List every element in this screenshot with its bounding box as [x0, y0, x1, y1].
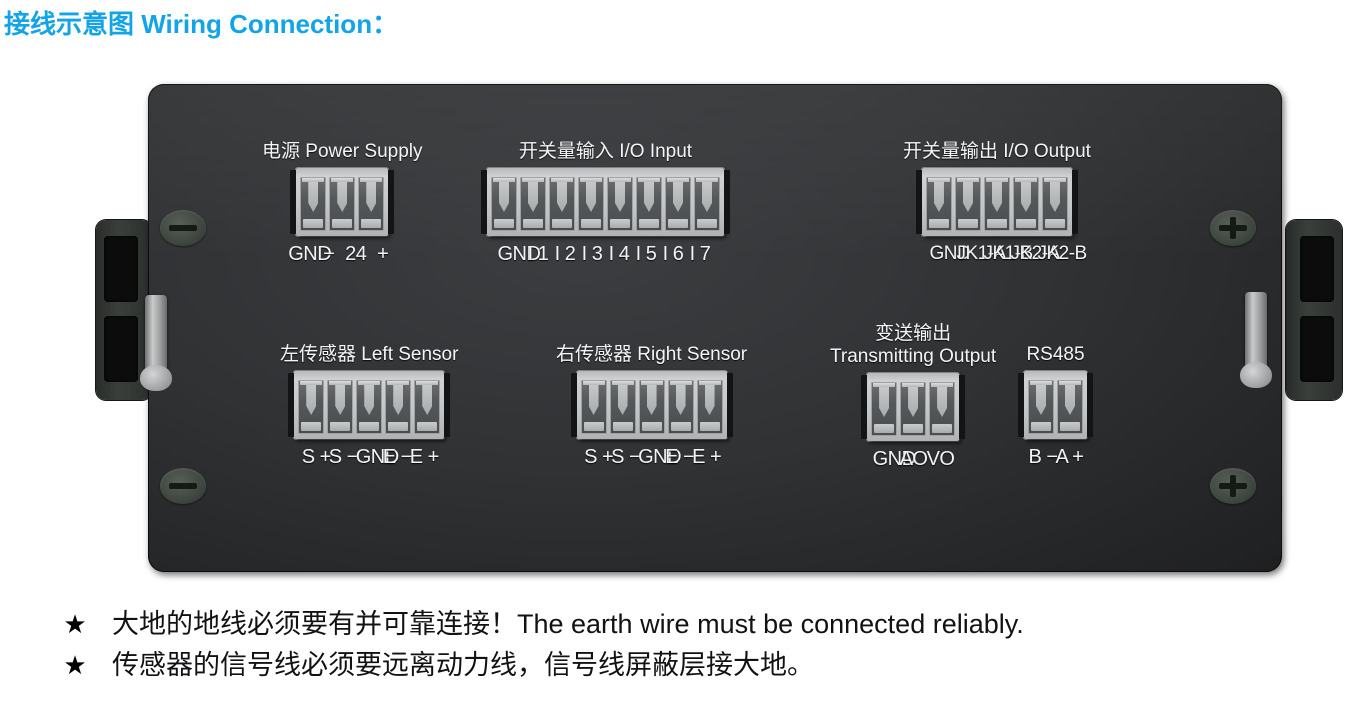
port-base — [639, 219, 659, 228]
port-arrow-icon — [1050, 182, 1060, 212]
port-lip — [928, 178, 950, 182]
port-arrow-icon — [908, 387, 918, 417]
port-base — [494, 219, 514, 228]
terminal-port[interactable] — [694, 177, 720, 231]
port-base — [613, 422, 633, 431]
pin-label: GND — [638, 446, 665, 469]
port-arrow-icon — [644, 182, 654, 212]
port-base — [697, 219, 717, 228]
terminal-port[interactable] — [929, 382, 955, 436]
terminal-port[interactable] — [329, 177, 355, 231]
group-label-io-input: 开关量输入 I/O Input — [487, 140, 724, 163]
pin-label: − — [315, 243, 342, 266]
pin-label: I 1 — [525, 243, 552, 266]
connector-power-supply[interactable] — [296, 168, 388, 236]
port-lip — [493, 178, 515, 182]
port-base — [330, 422, 350, 431]
group-label-right-sensor: 右传感器 Right Sensor — [556, 343, 747, 366]
port-arrow-icon — [589, 385, 599, 415]
port-lip — [1015, 178, 1037, 182]
port-arrow-icon — [615, 182, 625, 212]
connector-ports — [300, 177, 384, 231]
port-base — [668, 219, 688, 228]
pin-label: E + — [692, 446, 719, 469]
pin-label: JK1-B — [983, 243, 1010, 265]
port-base — [361, 219, 381, 228]
port-lip — [957, 178, 979, 182]
port-arrow-icon — [557, 182, 567, 212]
pin-label: B − — [1029, 446, 1056, 469]
bracket-slot-left-top — [104, 236, 138, 302]
port-base — [303, 219, 323, 228]
port-arrow-icon — [586, 182, 596, 212]
pin-label: I 7 — [687, 243, 714, 266]
pin-label: E + — [410, 446, 437, 469]
pin-label: I 3 — [579, 243, 606, 266]
bracket-slot-right-bottom — [1300, 316, 1334, 382]
terminal-port[interactable] — [520, 177, 546, 231]
port-lip — [873, 383, 895, 387]
port-lip — [902, 383, 924, 387]
terminal-port[interactable] — [1057, 380, 1083, 434]
terminal-port[interactable] — [1013, 177, 1039, 231]
connector-right-sensor[interactable] — [577, 371, 727, 439]
pin-label: S − — [611, 446, 638, 469]
pin-label: S − — [329, 446, 356, 469]
terminal-port[interactable] — [356, 380, 382, 434]
port-lip — [986, 178, 1008, 182]
terminal-port[interactable] — [414, 380, 440, 434]
terminal-group-io-output: 开关量输出 I/O Output GNDJK1-AJK1-BJK2-AJK2-B — [903, 140, 1091, 265]
group-label-line2: Transmitting Output — [830, 345, 996, 368]
port-base — [552, 219, 572, 228]
port-arrow-icon — [937, 387, 947, 417]
terminal-group-rs485: RS485 B −A + — [1024, 343, 1087, 469]
port-base — [1016, 219, 1036, 228]
pin-labels-transmitting-output: GNDAOVO — [830, 448, 996, 471]
terminal-port[interactable] — [298, 380, 324, 434]
pin-labels-rs485: B −A + — [1024, 446, 1087, 469]
port-arrow-icon — [702, 182, 712, 212]
screw-right-bottom — [1210, 468, 1256, 504]
connector-ports — [581, 380, 723, 434]
ground-stud-right — [1245, 292, 1267, 374]
group-label-transmitting-output: 变送输出 Transmitting Output — [830, 322, 996, 368]
port-arrow-icon — [647, 385, 657, 415]
terminal-port[interactable] — [610, 380, 636, 434]
terminal-port[interactable] — [984, 177, 1010, 231]
terminal-group-power-supply: 电源 Power Supply GND−24+ — [262, 140, 423, 266]
page-title: 接线示意图 Wiring Connection： — [4, 4, 398, 41]
pin-label: GND — [356, 446, 383, 469]
port-lip — [609, 178, 631, 182]
terminal-port[interactable] — [578, 177, 604, 231]
pin-label: I 6 — [660, 243, 687, 266]
screw-right-top — [1210, 210, 1256, 246]
connector-transmitting-output[interactable] — [867, 373, 959, 441]
pin-labels-power-supply: GND−24+ — [262, 243, 423, 266]
terminal-port[interactable] — [665, 177, 691, 231]
group-label-rs485: RS485 — [1024, 343, 1087, 366]
terminal-port[interactable] — [549, 177, 575, 231]
port-arrow-icon — [676, 385, 686, 415]
port-arrow-icon — [963, 182, 973, 212]
connector-ports — [491, 177, 720, 231]
pin-labels-io-output: GNDJK1-AJK1-BJK2-AJK2-B — [903, 243, 1091, 265]
port-arrow-icon — [364, 385, 374, 415]
pin-label: 24 — [342, 243, 369, 266]
port-base — [642, 422, 662, 431]
port-base — [874, 424, 894, 433]
port-base — [584, 422, 604, 431]
port-arrow-icon — [422, 385, 432, 415]
pin-label: I 4 — [606, 243, 633, 266]
ground-stud-left-cap — [140, 365, 172, 391]
port-lip — [300, 381, 322, 385]
port-arrow-icon — [1036, 385, 1046, 415]
terminal-port[interactable] — [1042, 177, 1068, 231]
ground-stud-right-cap — [1240, 362, 1272, 388]
pin-label: + — [369, 243, 396, 266]
port-lip — [329, 381, 351, 385]
port-base — [700, 422, 720, 431]
pin-label: JK1-A — [956, 243, 983, 265]
port-lip — [699, 381, 721, 385]
port-lip — [1030, 381, 1052, 385]
port-base — [359, 422, 379, 431]
bracket-slot-right-top — [1300, 236, 1334, 302]
terminal-port[interactable] — [697, 380, 723, 434]
pin-label: S + — [584, 446, 611, 469]
port-base — [671, 422, 691, 431]
pin-labels-left-sensor: S +S −GNDE −E + — [280, 446, 458, 469]
pin-label: GND — [288, 243, 315, 266]
terminal-port[interactable] — [300, 177, 326, 231]
port-arrow-icon — [335, 385, 345, 415]
port-lip — [360, 178, 382, 182]
terminal-port[interactable] — [636, 177, 662, 231]
group-label-left-sensor: 左传感器 Left Sensor — [280, 343, 458, 366]
port-base — [417, 422, 437, 431]
pin-label: VO — [927, 448, 954, 471]
port-base — [301, 422, 321, 431]
port-arrow-icon — [1065, 385, 1075, 415]
group-label-power-supply: 电源 Power Supply — [262, 140, 423, 163]
port-lip — [331, 178, 353, 182]
connector-ports — [871, 382, 955, 436]
terminal-port[interactable] — [900, 382, 926, 436]
terminal-port[interactable] — [327, 380, 353, 434]
terminal-port[interactable] — [639, 380, 665, 434]
port-lip — [1059, 381, 1081, 385]
port-base — [610, 219, 630, 228]
terminal-port[interactable] — [581, 380, 607, 434]
terminal-group-io-input: 开关量输入 I/O Input GNDI 1I 2I 3I 4I 5I 6I 7 — [487, 140, 724, 266]
wiring-diagram: 电源 Power Supply GND−24+ 开关量输入 I/O Input … — [0, 70, 1356, 590]
port-lip — [696, 178, 718, 182]
port-lip — [302, 178, 324, 182]
port-arrow-icon — [934, 182, 944, 212]
note-item: ★ 传感器的信号线必须要远离动力线，信号线屏蔽层接大地。 — [0, 645, 1356, 686]
port-arrow-icon — [992, 182, 1002, 212]
terminal-group-right-sensor: 右传感器 Right Sensor S +S −GNDE −E + — [556, 343, 747, 469]
terminal-port[interactable] — [385, 380, 411, 434]
port-lip — [638, 178, 660, 182]
note-item: ★ 大地的地线必须要有并可靠连接！The earth wire must be … — [0, 604, 1356, 645]
pin-labels-right-sensor: S +S −GNDE −E + — [556, 446, 747, 469]
port-arrow-icon — [499, 182, 509, 212]
port-lip — [612, 381, 634, 385]
port-base — [581, 219, 601, 228]
bracket-slot-left-bottom — [104, 316, 138, 382]
mounting-bracket-right — [1286, 220, 1342, 400]
connector-io-output[interactable] — [922, 168, 1072, 236]
port-lip — [1044, 178, 1066, 182]
port-base — [1060, 422, 1080, 431]
terminal-port[interactable] — [926, 177, 952, 231]
port-arrow-icon — [673, 182, 683, 212]
pin-label: E − — [383, 446, 410, 469]
port-lip — [387, 381, 409, 385]
ground-stud-left — [145, 295, 167, 377]
note-text: 大地的地线必须要有并可靠连接！The earth wire must be co… — [98, 604, 1024, 645]
note-text: 传感器的信号线必须要远离动力线，信号线屏蔽层接大地。 — [98, 645, 814, 686]
port-base — [929, 219, 949, 228]
star-icon: ★ — [0, 645, 98, 686]
port-arrow-icon — [393, 385, 403, 415]
pin-label: GND — [929, 243, 956, 265]
pin-label: GND — [498, 243, 525, 266]
star-icon: ★ — [0, 604, 98, 645]
port-lip — [358, 381, 380, 385]
port-lip — [667, 178, 689, 182]
pin-label: JK2-A — [1010, 243, 1037, 265]
terminal-port[interactable] — [358, 177, 384, 231]
pin-label: I 2 — [552, 243, 579, 266]
pin-label: GND — [873, 448, 900, 471]
group-label-io-output: 开关量输出 I/O Output — [903, 140, 1091, 163]
port-base — [903, 424, 923, 433]
terminal-port[interactable] — [668, 380, 694, 434]
port-lip — [551, 178, 573, 182]
terminal-port[interactable] — [491, 177, 517, 231]
port-base — [932, 424, 952, 433]
terminal-port[interactable] — [607, 177, 633, 231]
port-lip — [931, 383, 953, 387]
terminal-port[interactable] — [955, 177, 981, 231]
port-arrow-icon — [879, 387, 889, 417]
port-lip — [670, 381, 692, 385]
pin-label: S + — [302, 446, 329, 469]
pin-label: JK2-B — [1037, 243, 1064, 265]
terminal-port[interactable] — [871, 382, 897, 436]
port-base — [388, 422, 408, 431]
terminal-group-transmitting-output: 变送输出 Transmitting Output GNDAOVO — [830, 322, 996, 471]
connector-ports — [298, 380, 440, 434]
terminal-port[interactable] — [1028, 380, 1054, 434]
port-lip — [416, 381, 438, 385]
port-base — [987, 219, 1007, 228]
pin-labels-io-input: GNDI 1I 2I 3I 4I 5I 6I 7 — [487, 243, 724, 266]
connector-io-input[interactable] — [487, 168, 724, 236]
group-label-line1: 变送输出 — [875, 323, 951, 344]
port-arrow-icon — [308, 182, 318, 212]
port-arrow-icon — [618, 385, 628, 415]
connector-left-sensor[interactable] — [294, 371, 444, 439]
port-base — [1045, 219, 1065, 228]
port-arrow-icon — [366, 182, 376, 212]
screw-left-bottom — [160, 468, 206, 504]
pin-label: I 5 — [633, 243, 660, 266]
port-lip — [580, 178, 602, 182]
pin-label: E − — [665, 446, 692, 469]
port-lip — [641, 381, 663, 385]
pin-label: AO — [900, 448, 927, 471]
connector-ports — [1028, 380, 1083, 434]
port-base — [1031, 422, 1051, 431]
port-base — [332, 219, 352, 228]
port-arrow-icon — [337, 182, 347, 212]
pin-label: A + — [1056, 446, 1083, 469]
port-base — [523, 219, 543, 228]
port-base — [958, 219, 978, 228]
notes-list: ★ 大地的地线必须要有并可靠连接！The earth wire must be … — [0, 604, 1356, 686]
screw-left-top — [160, 210, 206, 246]
connector-ports — [926, 177, 1068, 231]
port-arrow-icon — [1021, 182, 1031, 212]
terminal-group-left-sensor: 左传感器 Left Sensor S +S −GNDE −E + — [280, 343, 458, 469]
port-lip — [522, 178, 544, 182]
connector-rs485[interactable] — [1024, 371, 1087, 439]
port-arrow-icon — [306, 385, 316, 415]
port-arrow-icon — [705, 385, 715, 415]
port-lip — [583, 381, 605, 385]
port-arrow-icon — [528, 182, 538, 212]
